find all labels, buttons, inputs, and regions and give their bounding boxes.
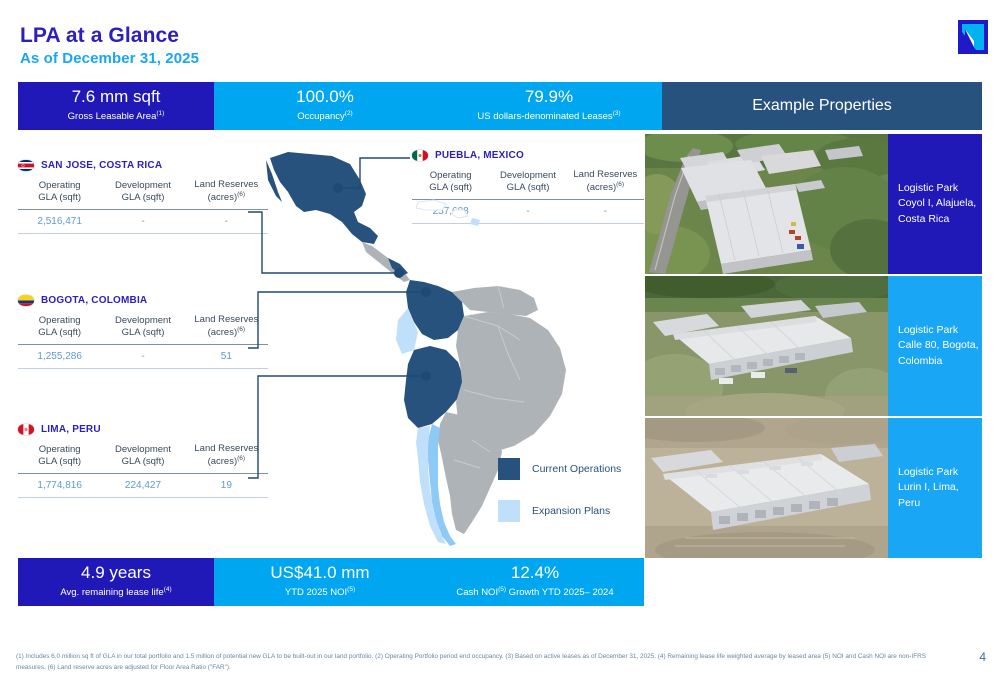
kpi-label-suffix: Growth YTD 2025– 2024 xyxy=(506,587,614,598)
kpi-footnote-marker: (4) xyxy=(164,586,172,593)
legend-swatch-expansion-plans xyxy=(498,500,520,522)
country-block-bogota: BOGOTA, COLOMBIA OperatingGLA (sqft) Dev… xyxy=(18,295,268,369)
table-row: 1,255,286 - 51 xyxy=(18,344,268,368)
cell-land-reserves: - xyxy=(185,209,268,233)
legend-swatch-current-operations xyxy=(498,458,520,480)
cell-operating-gla: 2,516,471 xyxy=(18,209,101,233)
country-name: SAN JOSE, COSTA RICA xyxy=(41,160,162,171)
legend-item-expansion-plans: Expansion Plans xyxy=(498,500,621,522)
stats-table: OperatingGLA (sqft) DevelopmentGLA (sqft… xyxy=(18,178,268,234)
col-land-reserves: Land Reserves(acres)(6) xyxy=(185,442,268,473)
map-dot-peru xyxy=(421,371,431,381)
kpi-footnote-marker: (1) xyxy=(156,110,164,117)
kpi-value: US$41.0 mm xyxy=(270,564,369,583)
kpi-label-text: Cash NOI xyxy=(456,587,498,598)
aerial-photo-coyol-image xyxy=(645,134,888,274)
kpi-banner-bottom: 4.9 years Avg. remaining lease life(4) U… xyxy=(18,558,644,606)
property-item-calle-80[interactable]: Logistic Park Calle 80, Bogota, Colombia xyxy=(645,276,982,416)
cell-development-gla: - xyxy=(101,209,184,233)
page-subtitle: As of December 31, 2025 xyxy=(20,50,199,67)
kpi-footnote-marker: (5) xyxy=(498,586,506,593)
kpi-value: 7.6 mm sqft xyxy=(72,88,161,107)
col-development-gla: DevelopmentGLA (sqft) xyxy=(101,313,184,344)
col-operating-gla: OperatingGLA (sqft) xyxy=(18,313,101,344)
property-item-coyol[interactable]: Logistic Park Coyol I, Alajuela, Costa R… xyxy=(645,134,982,274)
stats-table: OperatingGLA (sqft) DevelopmentGLA (sqft… xyxy=(18,313,268,369)
kpi-value: 4.9 years xyxy=(81,564,151,583)
legend-item-current-operations: Current Operations xyxy=(498,458,621,480)
example-properties-list: Logistic Park Coyol I, Alajuela, Costa R… xyxy=(645,134,982,560)
kpi-avg-remaining-lease-life: 4.9 years Avg. remaining lease life(4) xyxy=(18,558,214,606)
kpi-label: Cash NOI(5) Growth YTD 2025– 2024 xyxy=(456,586,613,600)
country-block-san-jose: SAN JOSE, COSTA RICA OperatingGLA (sqft)… xyxy=(18,160,268,234)
kpi-value: 12.4% xyxy=(511,564,559,583)
kpi-label-text: YTD 2025 NOI xyxy=(285,587,347,598)
col-development-gla: DevelopmentGLA (sqft) xyxy=(101,442,184,473)
table-row: 2,516,471 - - xyxy=(18,209,268,233)
col-operating-gla: OperatingGLA (sqft) xyxy=(18,442,101,473)
lpa-logo-icon xyxy=(958,20,988,54)
cell-development-gla: 224,427 xyxy=(101,473,184,497)
kpi-label-text: Gross Leasable Area xyxy=(68,111,157,122)
page-number: 4 xyxy=(979,650,986,664)
kpi-label: Occupancy(2) xyxy=(297,110,352,124)
example-properties-header: Example Properties xyxy=(662,82,982,130)
kpi-footnote-marker: (5) xyxy=(347,586,355,593)
cell-land-reserves: 51 xyxy=(185,344,268,368)
kpi-label: Avg. remaining lease life(4) xyxy=(60,586,171,600)
kpi-banner-top: 7.6 mm sqft Gross Leasable Area(1) 100.0… xyxy=(18,82,982,130)
page-title: LPA at a Glance xyxy=(20,24,179,48)
col-development-gla: DevelopmentGLA (sqft) xyxy=(101,178,184,209)
kpi-label-text: Avg. remaining lease life xyxy=(60,587,163,598)
kpi-label: Gross Leasable Area(1) xyxy=(68,110,165,124)
kpi-label: US dollars-denominated Leases(3) xyxy=(477,110,620,124)
kpi-usd-denominated-leases: 79.9% US dollars-denominated Leases(3) xyxy=(436,82,662,130)
cell-operating-gla: 1,774,816 xyxy=(18,473,101,497)
aerial-photo-calle-80-image xyxy=(645,276,888,416)
country-name: LIMA, PERU xyxy=(41,424,101,435)
col-land-reserves: Land Reserves(acres)(6) xyxy=(185,178,268,209)
table-header-row: OperatingGLA (sqft) DevelopmentGLA (sqft… xyxy=(18,178,268,209)
peru-flag-icon xyxy=(18,424,34,435)
kpi-value: 79.9% xyxy=(525,88,573,107)
map-legend: Current Operations Expansion Plans xyxy=(498,458,621,542)
legend-label: Current Operations xyxy=(532,463,621,475)
kpi-gross-leasable-area: 7.6 mm sqft Gross Leasable Area(1) xyxy=(18,82,214,130)
aerial-photo-lurin-image xyxy=(645,418,888,558)
map-dot-costa-rica xyxy=(394,268,404,278)
property-item-lurin[interactable]: Logistic Park Lurin I, Lima, Peru xyxy=(645,418,982,558)
cell-operating-gla: 1,255,286 xyxy=(18,344,101,368)
cell-development-gla: - xyxy=(101,344,184,368)
colombia-flag-icon xyxy=(18,295,34,306)
kpi-cash-noi-growth: 12.4% Cash NOI(5) Growth YTD 2025– 2024 xyxy=(426,558,644,606)
costa-rica-flag-icon xyxy=(18,160,34,171)
table-header-row: OperatingGLA (sqft) DevelopmentGLA (sqft… xyxy=(18,442,268,473)
table-header-row: OperatingGLA (sqft) DevelopmentGLA (sqft… xyxy=(18,313,268,344)
country-header: LIMA, PERU xyxy=(18,424,268,435)
map-dot-colombia xyxy=(421,287,431,297)
kpi-occupancy: 100.0% Occupancy(2) xyxy=(214,82,436,130)
col-land-reserves: Land Reserves(acres)(6) xyxy=(185,313,268,344)
kpi-label-text: US dollars-denominated Leases xyxy=(477,111,612,122)
kpi-footnote-marker: (3) xyxy=(613,110,621,117)
cell-land-reserves: 19 xyxy=(185,473,268,497)
map-dot-mexico xyxy=(333,183,343,193)
kpi-ytd-noi: US$41.0 mm YTD 2025 NOI(5) xyxy=(214,558,426,606)
col-operating-gla: OperatingGLA (sqft) xyxy=(18,178,101,209)
kpi-label: YTD 2025 NOI(5) xyxy=(285,586,355,600)
legend-label: Expansion Plans xyxy=(532,505,610,517)
kpi-footnote-marker: (2) xyxy=(345,110,353,117)
kpi-value: 100.0% xyxy=(296,88,354,107)
kpi-label-text: Occupancy xyxy=(297,111,345,122)
country-name: BOGOTA, COLOMBIA xyxy=(41,295,147,306)
table-row: 1,774,816 224,427 19 xyxy=(18,473,268,497)
stats-table: OperatingGLA (sqft) DevelopmentGLA (sqft… xyxy=(18,442,268,498)
country-header: SAN JOSE, COSTA RICA xyxy=(18,160,268,171)
country-header: BOGOTA, COLOMBIA xyxy=(18,295,268,306)
footnotes: (1) Includes 6.0 million sq ft of GLA in… xyxy=(16,652,946,673)
property-caption: Logistic Park Coyol I, Alajuela, Costa R… xyxy=(888,134,982,274)
property-caption: Logistic Park Calle 80, Bogota, Colombia xyxy=(888,276,982,416)
country-block-lima: LIMA, PERU OperatingGLA (sqft) Developme… xyxy=(18,424,268,498)
property-caption: Logistic Park Lurin I, Lima, Peru xyxy=(888,418,982,558)
